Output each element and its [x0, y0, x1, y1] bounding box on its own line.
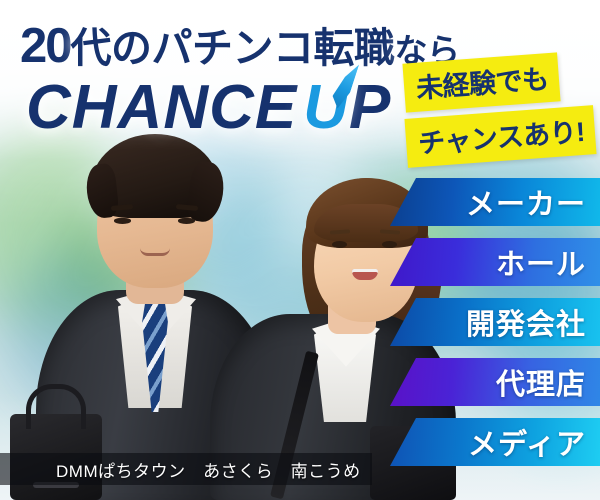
category-bar-agency[interactable]: 代理店 [390, 358, 600, 406]
category-label: メディア [468, 421, 586, 463]
badge-line-2: チャンスあり! [404, 105, 596, 168]
logo-u-letter: U [303, 73, 349, 142]
category-label: 開発会社 [466, 301, 586, 343]
category-bar-maker[interactable]: メーカー [390, 178, 600, 226]
headline: 20代のパチンコ転職なら [20, 14, 460, 74]
credit-strip: DMMぱちタウン あさくら 南こうめ [0, 453, 372, 485]
category-bar-hall[interactable]: ホール [390, 238, 600, 286]
chance-up-logo: CHANCEUP [26, 72, 391, 143]
advertisement-banner[interactable]: 20代のパチンコ転職なら CHANCEUP 未経験でも チャンスあり! メーカー… [0, 0, 600, 500]
category-label: メーカー [466, 181, 586, 223]
category-label: ホール [496, 241, 586, 283]
headline-body: 代のパチンコ転職 [71, 25, 395, 71]
logo-p-letter: P [349, 73, 391, 142]
headline-number: 20 [20, 19, 71, 73]
category-bar-developer[interactable]: 開発会社 [390, 298, 600, 346]
badge-line-1: 未経験でも [402, 52, 560, 112]
category-bar-media[interactable]: メディア [390, 418, 600, 466]
category-bar-list: メーカー ホール 開発会社 代理店 メディア [390, 178, 600, 466]
logo-chance-text: CHANCE [26, 73, 297, 142]
credit-text: DMMぱちタウン あさくら 南こうめ [0, 457, 361, 482]
highlight-badge: 未経験でも チャンスあり! [404, 58, 600, 161]
category-label: 代理店 [496, 361, 586, 403]
